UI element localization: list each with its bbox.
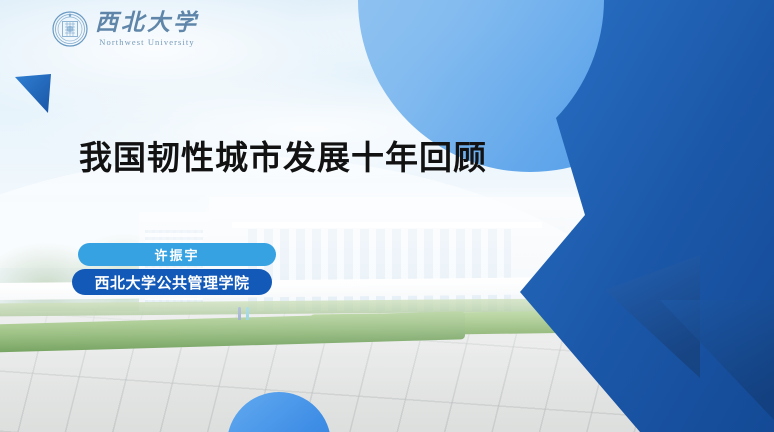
northwest-university-logo: 西北大学 Northwest University <box>52 11 199 47</box>
slide-title: 我国韧性城市发展十年回顾 <box>79 131 487 179</box>
pedestrian <box>640 307 643 320</box>
logo-chinese-name: 西北大学 <box>95 11 199 34</box>
pedestrian <box>650 307 653 320</box>
university-seal-icon <box>52 11 88 47</box>
pedestrian <box>659 307 662 320</box>
pedestrian <box>246 307 249 320</box>
title-slide: 西北大学 Northwest University 我国韧性城市发展十年回顾 许… <box>0 0 774 432</box>
trash-bin <box>718 308 726 318</box>
trash-bin <box>728 308 736 318</box>
conifer-tree <box>604 241 636 315</box>
pedestrian <box>630 307 633 320</box>
author-pill: 许振宇 <box>78 243 276 266</box>
pedestrian <box>238 307 241 320</box>
conifer-tree <box>664 267 686 315</box>
pedestrian <box>614 307 617 320</box>
logo-english-name: Northwest University <box>99 38 194 47</box>
conifer-tree <box>714 257 740 315</box>
pedestrian <box>622 307 625 320</box>
affiliation-pill: 西北大学公共管理学院 <box>72 269 272 295</box>
